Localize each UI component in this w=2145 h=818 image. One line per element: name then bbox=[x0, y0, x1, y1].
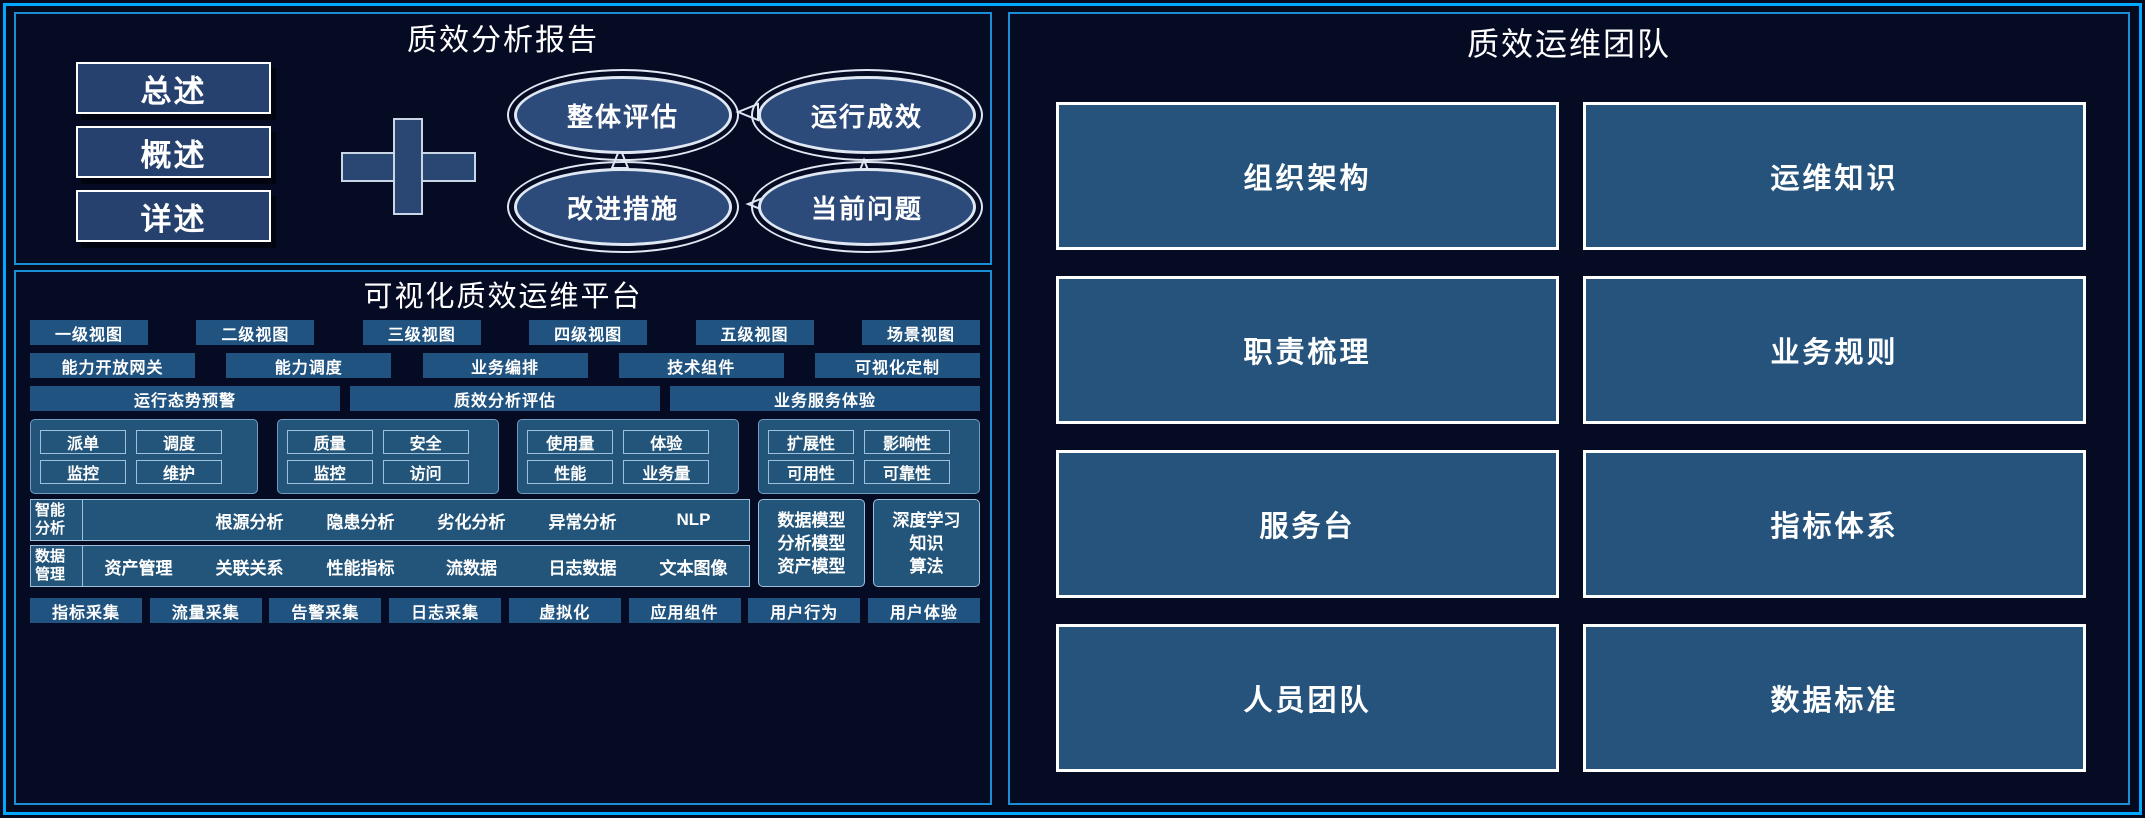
capability-tag-3[interactable]: 技术组件 bbox=[619, 353, 784, 378]
team-item-ops-knowledge[interactable]: 运维知识 bbox=[1583, 102, 2086, 250]
group-0-cell-1[interactable]: 调度 bbox=[136, 430, 222, 454]
team-panel-title: 质效运维团队 bbox=[1010, 28, 2128, 60]
data-management-band: 数据 管理 资产管理 关联关系 性能指标 流数据 日志数据 文本图像 bbox=[30, 545, 750, 587]
intelligent-analysis-label: 智能 分析 bbox=[31, 500, 83, 540]
data-item-2[interactable]: 性能指标 bbox=[305, 554, 416, 579]
view-tag-4[interactable]: 五级视图 bbox=[696, 320, 814, 345]
data-management-label: 数据 管理 bbox=[31, 546, 83, 586]
data-model-line1: 数据模型 bbox=[778, 509, 846, 532]
platform-body: 一级视图 二级视图 三级视图 四级视图 五级视图 场景视图 能力开放网关 能力调… bbox=[30, 320, 980, 623]
capability-tag-4[interactable]: 可视化定制 bbox=[815, 353, 980, 378]
group-3-cell-1[interactable]: 影响性 bbox=[864, 430, 950, 454]
deep-learning-line2: 知识 bbox=[910, 532, 944, 555]
team-item-org-structure[interactable]: 组织架构 bbox=[1056, 102, 1559, 250]
service-tag-0[interactable]: 运行态势预警 bbox=[30, 386, 340, 411]
analysis-data-bands: 智能 分析 根源分析 隐患分析 劣化分析 异常分析 NLP bbox=[30, 499, 750, 591]
analysis-item-2[interactable]: 隐患分析 bbox=[305, 508, 416, 533]
deep-learning-line3: 算法 bbox=[910, 555, 944, 578]
group-3-cell-2[interactable]: 可用性 bbox=[768, 460, 854, 484]
collect-tag-4[interactable]: 虚拟化 bbox=[509, 598, 621, 623]
deep-learning-box[interactable]: 深度学习 知识 算法 bbox=[873, 499, 980, 587]
report-stack-item-1[interactable]: 概述 bbox=[76, 126, 271, 178]
data-model-box[interactable]: 数据模型 分析模型 资产模型 bbox=[758, 499, 865, 587]
team-item-personnel[interactable]: 人员团队 bbox=[1056, 624, 1559, 772]
team-item-data-standard[interactable]: 数据标准 bbox=[1583, 624, 2086, 772]
capability-tag-1[interactable]: 能力调度 bbox=[226, 353, 391, 378]
group-1-cell-1[interactable]: 安全 bbox=[383, 430, 469, 454]
capability-tag-0[interactable]: 能力开放网关 bbox=[30, 353, 195, 378]
intelligent-analysis-items: 根源分析 隐患分析 劣化分析 异常分析 NLP bbox=[83, 500, 749, 540]
report-stack-item-2[interactable]: 详述 bbox=[76, 190, 271, 242]
data-model-line3: 资产模型 bbox=[778, 555, 846, 578]
analysis-item-5[interactable]: NLP bbox=[638, 510, 749, 530]
analysis-item-4[interactable]: 异常分析 bbox=[527, 508, 638, 533]
group-1-cell-3[interactable]: 访问 bbox=[383, 460, 469, 484]
group-0-cell-2[interactable]: 监控 bbox=[40, 460, 126, 484]
view-tag-3[interactable]: 四级视图 bbox=[529, 320, 647, 345]
collect-tag-1[interactable]: 流量采集 bbox=[150, 598, 262, 623]
report-panel: 质效分析报告 总述 概述 详述 bbox=[14, 12, 992, 265]
group-0-cell-3[interactable]: 维护 bbox=[136, 460, 222, 484]
report-body: 总述 概述 详述 整体评估 运行成效 bbox=[16, 58, 990, 263]
group-3-cell-3[interactable]: 可靠性 bbox=[864, 460, 950, 484]
view-tag-1[interactable]: 二级视图 bbox=[196, 320, 314, 345]
capability-row: 能力开放网关 能力调度 业务编排 技术组件 可视化定制 bbox=[30, 353, 980, 378]
group-3-cell-0[interactable]: 扩展性 bbox=[768, 430, 854, 454]
data-item-5[interactable]: 文本图像 bbox=[638, 554, 749, 579]
team-item-metric-system[interactable]: 指标体系 bbox=[1583, 450, 2086, 598]
report-ellipse-cluster: 整体评估 运行成效 改进措施 当前问题 bbox=[496, 52, 976, 257]
group-usage: 使用量 体验 性能 业务量 bbox=[517, 419, 739, 494]
service-row: 运行态势预警 质效分析评估 业务服务体验 bbox=[30, 386, 980, 411]
data-item-0[interactable]: 资产管理 bbox=[83, 554, 194, 579]
group-2-cell-2[interactable]: 性能 bbox=[527, 460, 613, 484]
group-quality: 质量 安全 监控 访问 bbox=[277, 419, 499, 494]
ellipse-current-issues[interactable]: 当前问题 bbox=[758, 168, 976, 246]
team-item-business-rules[interactable]: 业务规则 bbox=[1583, 276, 2086, 424]
ellipse-overall-assessment[interactable]: 整体评估 bbox=[514, 76, 732, 154]
team-item-service-desk[interactable]: 服务台 bbox=[1056, 450, 1559, 598]
view-tag-0[interactable]: 一级视图 bbox=[30, 320, 148, 345]
service-tag-1[interactable]: 质效分析评估 bbox=[350, 386, 660, 411]
view-level-row: 一级视图 二级视图 三级视图 四级视图 五级视图 场景视图 bbox=[30, 320, 980, 345]
capability-tag-2[interactable]: 业务编排 bbox=[423, 353, 588, 378]
ellipse-operation-effect[interactable]: 运行成效 bbox=[758, 76, 976, 154]
data-management-label-line2: 管理 bbox=[35, 566, 65, 584]
group-0-cell-0[interactable]: 派单 bbox=[40, 430, 126, 454]
analysis-item-1[interactable]: 根源分析 bbox=[194, 508, 305, 533]
team-item-responsibility[interactable]: 职责梳理 bbox=[1056, 276, 1559, 424]
slide-canvas: 质效分析报告 总述 概述 详述 bbox=[0, 0, 2145, 818]
plus-icon bbox=[341, 140, 476, 180]
collect-tag-0[interactable]: 指标采集 bbox=[30, 598, 142, 623]
view-tag-2[interactable]: 三级视图 bbox=[363, 320, 481, 345]
data-management-label-line1: 数据 bbox=[35, 548, 65, 566]
intelligent-analysis-label-line1: 智能 bbox=[35, 502, 65, 520]
collect-tag-6[interactable]: 用户行为 bbox=[748, 598, 860, 623]
data-model-line2: 分析模型 bbox=[778, 532, 846, 555]
group-1-cell-2[interactable]: 监控 bbox=[287, 460, 373, 484]
analysis-item-3[interactable]: 劣化分析 bbox=[416, 508, 527, 533]
team-panel: 质效运维团队 组织架构 运维知识 职责梳理 业务规则 服务台 指标体系 人员团队… bbox=[1008, 12, 2130, 805]
data-item-4[interactable]: 日志数据 bbox=[527, 554, 638, 579]
intelligent-analysis-label-line2: 分析 bbox=[35, 520, 65, 538]
collection-row: 指标采集 流量采集 告警采集 日志采集 虚拟化 应用组件 用户行为 用户体验 bbox=[30, 598, 980, 623]
analysis-data-block: 智能 分析 根源分析 隐患分析 劣化分析 异常分析 NLP bbox=[30, 499, 980, 591]
ellipse-improvement-measures[interactable]: 改进措施 bbox=[514, 168, 732, 246]
view-tag-5[interactable]: 场景视图 bbox=[862, 320, 980, 345]
team-grid: 组织架构 运维知识 职责梳理 业务规则 服务台 指标体系 人员团队 数据标准 bbox=[1056, 102, 2086, 772]
collect-tag-7[interactable]: 用户体验 bbox=[868, 598, 980, 623]
report-stack: 总述 概述 详述 bbox=[76, 62, 271, 254]
data-item-1[interactable]: 关联关系 bbox=[194, 554, 305, 579]
collect-tag-3[interactable]: 日志采集 bbox=[389, 598, 501, 623]
capability-group-row: 派单 调度 监控 维护 质量 安全 监控 访问 bbox=[30, 419, 980, 494]
group-2-cell-1[interactable]: 体验 bbox=[623, 430, 709, 454]
deep-learning-line1: 深度学习 bbox=[893, 509, 961, 532]
group-reliability: 扩展性 影响性 可用性 可靠性 bbox=[758, 419, 980, 494]
service-tag-2[interactable]: 业务服务体验 bbox=[670, 386, 980, 411]
group-2-cell-3[interactable]: 业务量 bbox=[623, 460, 709, 484]
intelligent-analysis-band: 智能 分析 根源分析 隐患分析 劣化分析 异常分析 NLP bbox=[30, 499, 750, 541]
collect-tag-5[interactable]: 应用组件 bbox=[629, 598, 741, 623]
group-1-cell-0[interactable]: 质量 bbox=[287, 430, 373, 454]
data-management-items: 资产管理 关联关系 性能指标 流数据 日志数据 文本图像 bbox=[83, 546, 749, 586]
platform-panel-title: 可视化质效运维平台 bbox=[16, 282, 990, 311]
group-dispatch: 派单 调度 监控 维护 bbox=[30, 419, 258, 494]
report-stack-item-0[interactable]: 总述 bbox=[76, 62, 271, 114]
group-2-cell-0[interactable]: 使用量 bbox=[527, 430, 613, 454]
platform-panel: 可视化质效运维平台 一级视图 二级视图 三级视图 四级视图 五级视图 场景视图 … bbox=[14, 270, 992, 805]
model-boxes: 数据模型 分析模型 资产模型 深度学习 知识 算法 bbox=[758, 499, 980, 591]
collect-tag-2[interactable]: 告警采集 bbox=[269, 598, 381, 623]
data-item-3[interactable]: 流数据 bbox=[416, 554, 527, 579]
